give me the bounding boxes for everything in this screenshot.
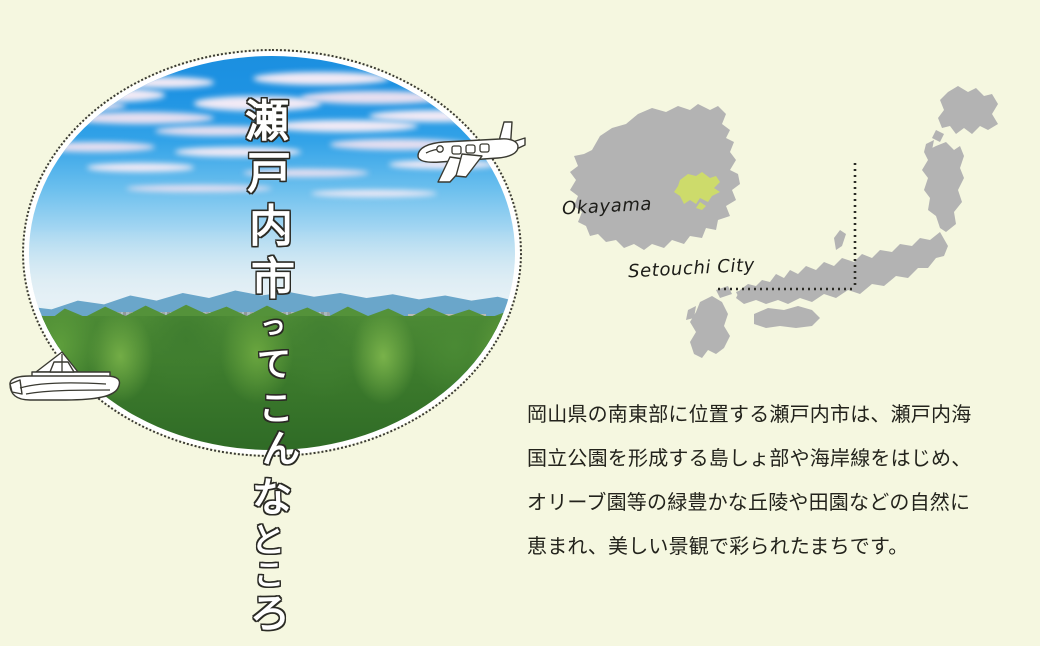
boat-icon bbox=[6, 344, 124, 414]
description-line: 岡山県の南東部に位置する瀬戸内市は、瀬戸内海 bbox=[527, 392, 1019, 436]
map-area: Okayama Setouchi City bbox=[540, 78, 1040, 378]
title-char: こ bbox=[254, 561, 284, 591]
page-root: 瀬 戸 内 市 っ て こ ん な と こ ろ bbox=[0, 0, 1040, 646]
description-line: オリーブ園等の緑豊かな丘陵や田園などの自然に bbox=[527, 480, 1019, 524]
title-char: な bbox=[252, 478, 292, 518]
description-paragraph: 岡山県の南東部に位置する瀬戸内市は、瀬戸内海 国立公園を形成する島しょ部や海岸線… bbox=[527, 392, 1019, 568]
airplane-icon bbox=[404, 112, 526, 186]
title-char: ろ bbox=[250, 594, 290, 634]
title-char: と bbox=[251, 524, 285, 558]
description-line: 恵まれ、美しい景観で彩られたまちです。 bbox=[527, 524, 1019, 568]
japan-map-shape bbox=[686, 86, 998, 358]
map-svg bbox=[540, 78, 1040, 378]
description-line: 国立公園を形成する島しょ部や海岸線をはじめ、 bbox=[527, 436, 1019, 480]
